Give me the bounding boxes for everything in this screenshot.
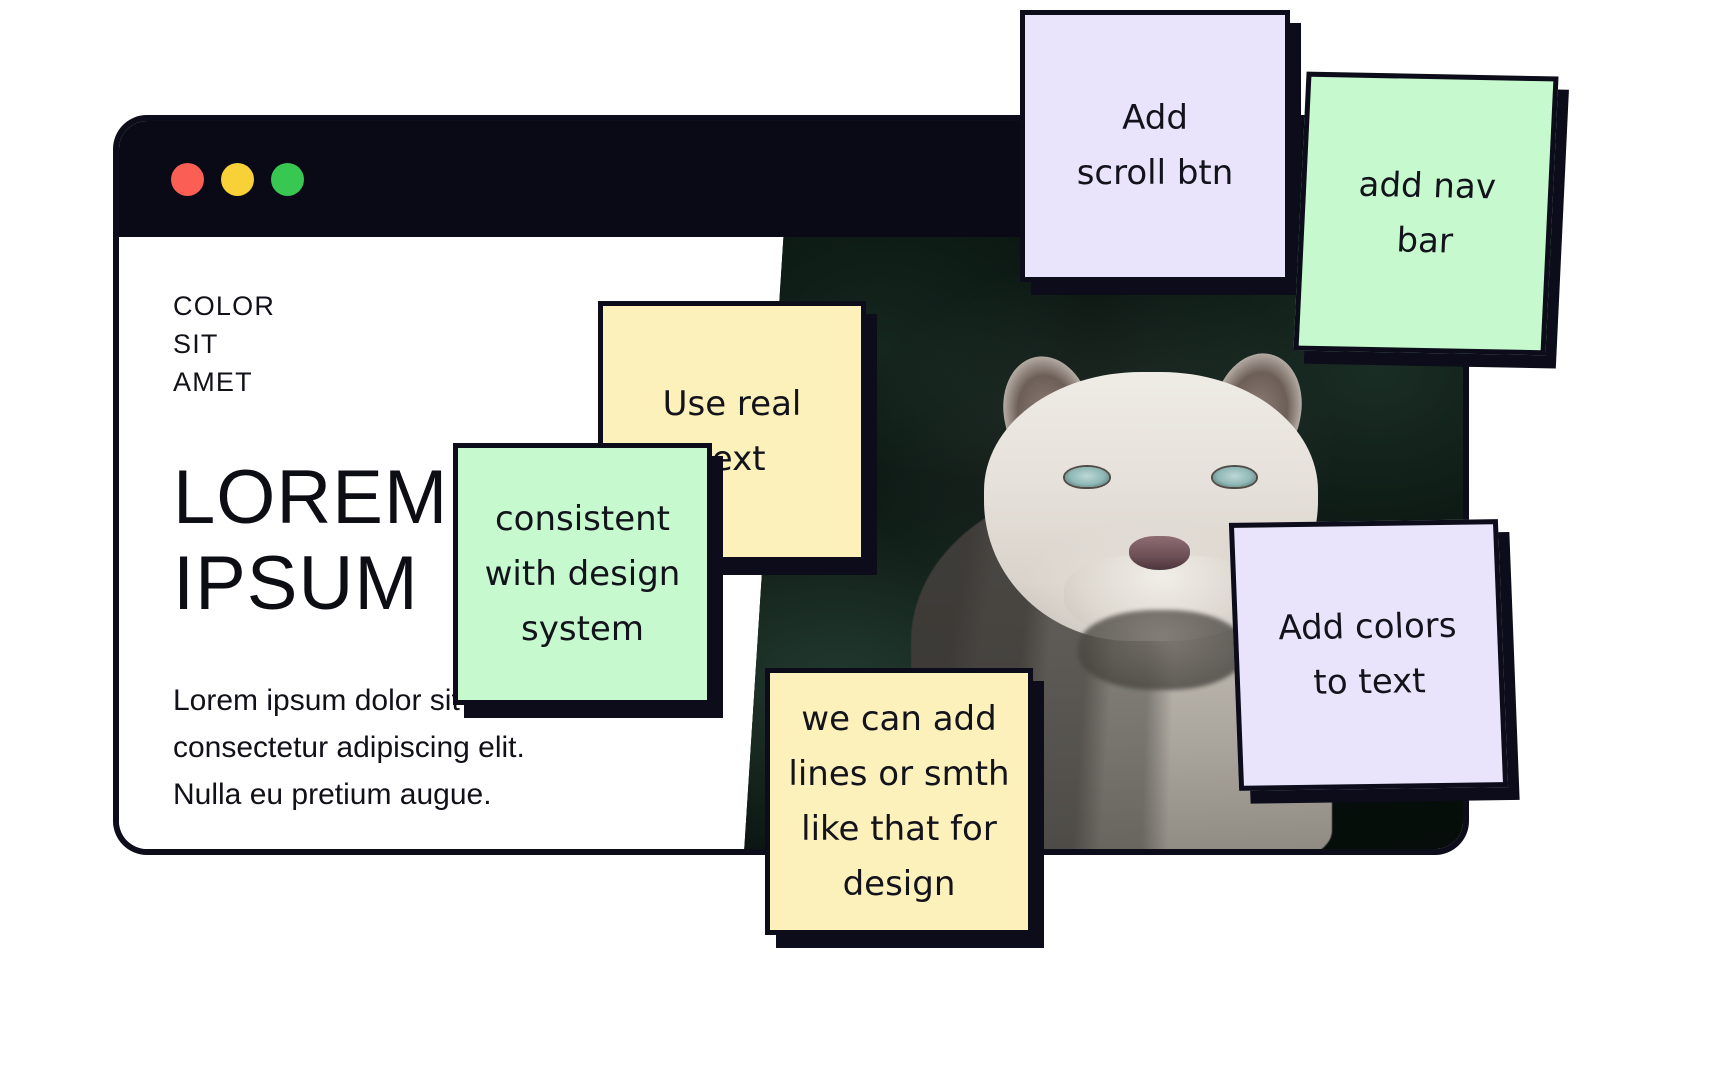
sticky-note-scroll-btn[interactable]: Add scroll btn	[1020, 10, 1290, 282]
sticky-note-nav-bar[interactable]: add nav bar	[1293, 72, 1558, 356]
sticky-note-lines-smth[interactable]: we can add lines or smth like that for d…	[765, 668, 1033, 935]
close-window-icon[interactable]	[171, 163, 204, 196]
sticky-note-add-colors[interactable]: Add colors to text	[1229, 519, 1508, 791]
tiger-eye-right	[1213, 467, 1257, 488]
tiger-nose	[1129, 536, 1190, 570]
tiger-eye-left	[1065, 467, 1109, 488]
sticky-note-design-system[interactable]: consistent with design system	[453, 443, 712, 705]
minimize-window-icon[interactable]	[221, 163, 254, 196]
tiger-chin	[1078, 610, 1245, 690]
maximize-window-icon[interactable]	[271, 163, 304, 196]
